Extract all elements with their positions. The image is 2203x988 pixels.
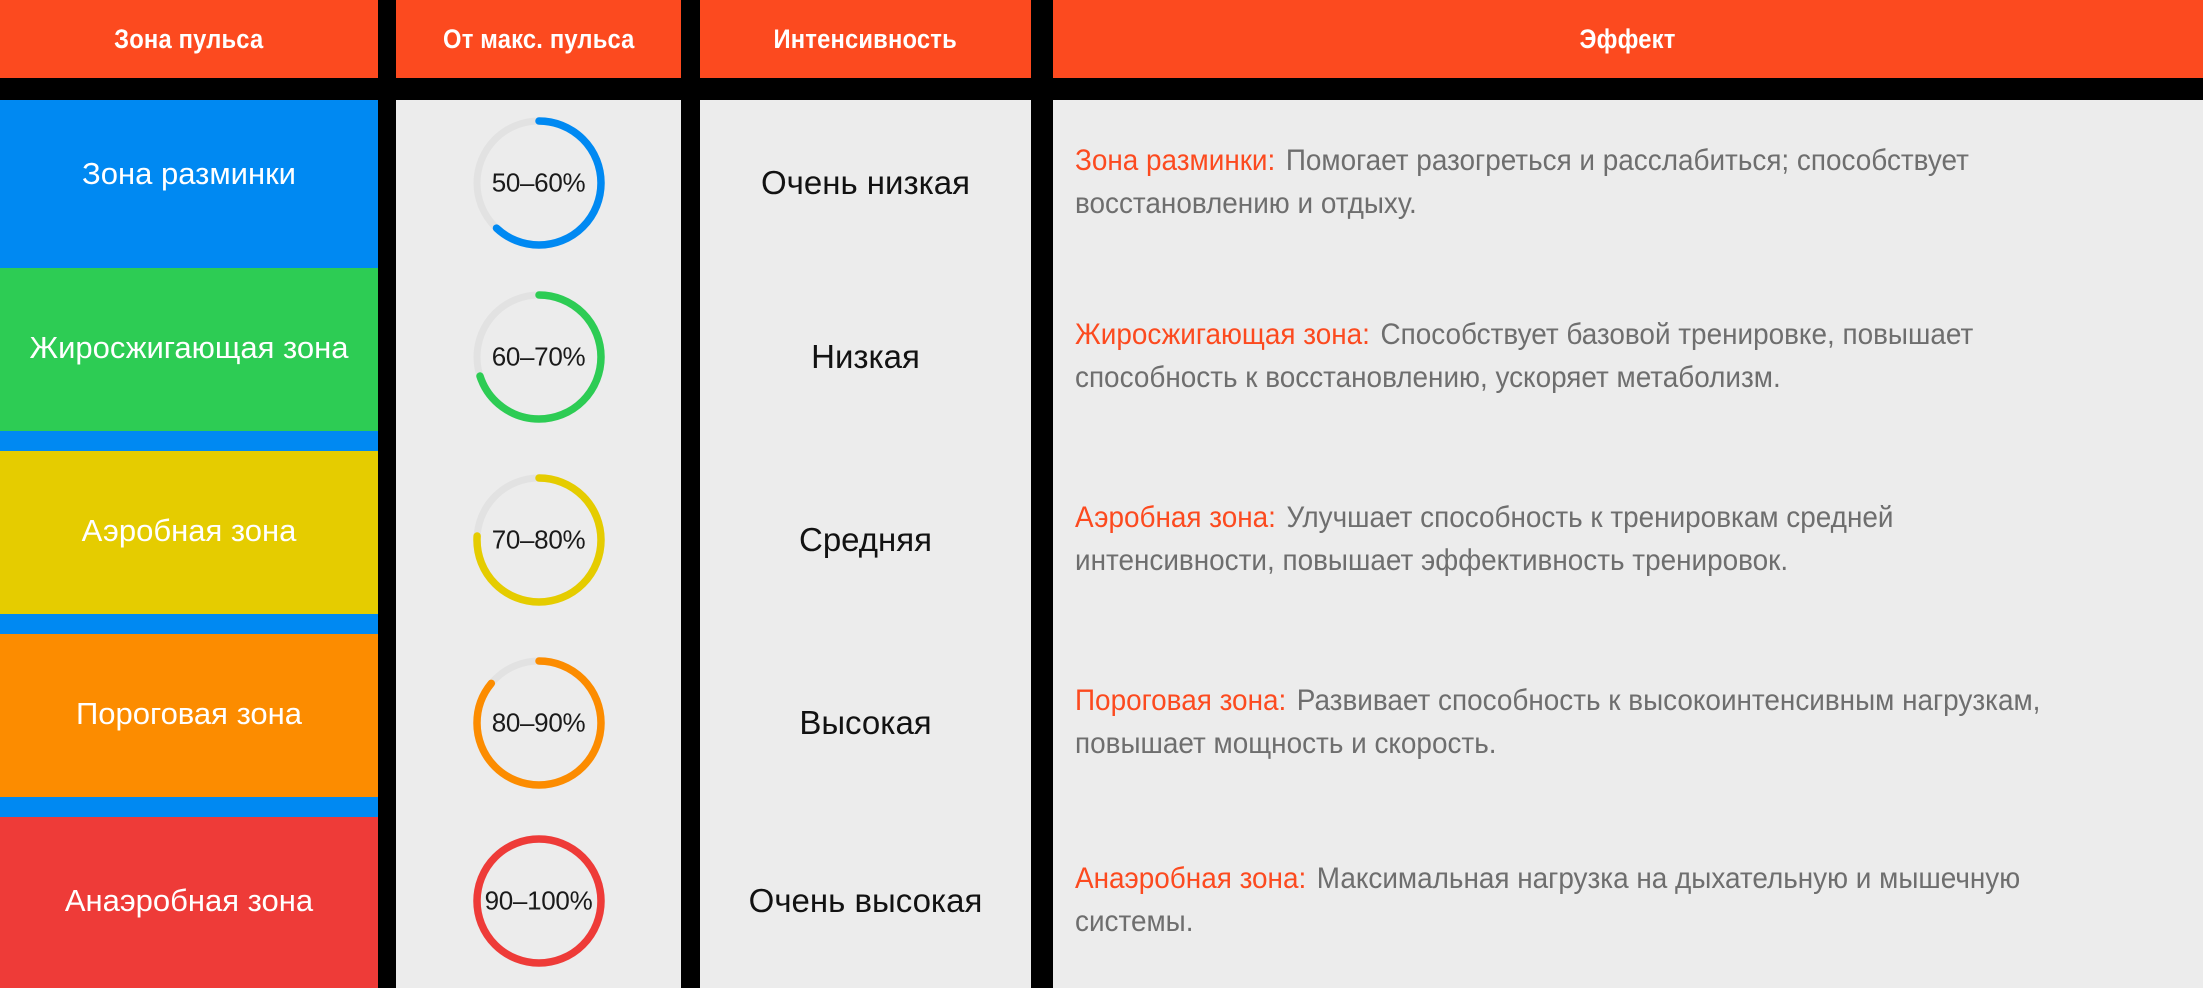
percent-range-label: 60–70% [492, 341, 586, 372]
intensity-label: Высокая [799, 704, 931, 742]
effect-spacer [1286, 684, 1297, 717]
percent-ring-gauge: 60–70% [468, 286, 610, 428]
effect-cell: Анаэробная зона: Максимальная нагрузка н… [1053, 814, 2203, 988]
zone-band[interactable]: Аэробная зона [0, 448, 378, 614]
percent-range-label: 50–60% [492, 167, 586, 198]
percent-ring-cell: 80–90% [396, 631, 681, 814]
zone-band-label: Пороговая зона [76, 695, 302, 733]
column-header-intensity-label: Интенсивность [774, 24, 957, 55]
zone-band-label: Анаэробная зона [65, 882, 313, 920]
zone-separator [0, 248, 378, 268]
effect-description: Аэробная зона: Улучшает способность к тр… [1075, 497, 2100, 582]
intensity-label: Средняя [799, 521, 932, 559]
effect-zone-name: Зона разминки: [1075, 144, 1275, 177]
effect-column: Зона разминки: Помогает разогреться и ра… [1053, 100, 2203, 988]
effect-cell: Зона разминки: Помогает разогреться и ра… [1053, 100, 2203, 265]
effect-spacer [1370, 318, 1381, 351]
percent-ring-cell: 50–60% [396, 100, 681, 265]
intensity-cell: Высокая [700, 631, 1031, 814]
zone-separator [0, 431, 378, 451]
effect-description: Зона разминки: Помогает разогреться и ра… [1075, 140, 2100, 225]
zone-band[interactable]: Анаэробная зона [0, 814, 378, 988]
intensity-cell: Средняя [700, 448, 1031, 631]
effect-zone-name: Пороговая зона: [1075, 684, 1286, 717]
percent-ring-cell: 60–70% [396, 265, 681, 448]
percent-ring-gauge: 90–100% [468, 830, 610, 972]
zone-band[interactable]: Жиросжигающая зона [0, 265, 378, 431]
effect-spacer [1276, 501, 1287, 534]
column-header-zone: Зона пульса [0, 0, 378, 78]
heart-rate-zone-table: Зона пульса От макс. пульса Интенсивност… [0, 0, 2203, 988]
column-header-percent-label: От макс. пульса [443, 24, 635, 55]
zone-band[interactable]: Зона разминки [0, 100, 378, 248]
zone-band-label: Жиросжигающая зона [29, 329, 348, 367]
percent-range-label: 70–80% [492, 524, 586, 555]
effect-cell: Жиросжигающая зона: Способствует базовой… [1053, 265, 2203, 448]
effect-spacer [1306, 862, 1317, 895]
zone-band-label: Аэробная зона [82, 512, 297, 550]
column-header-effect-label: Эффект [1580, 24, 1676, 55]
effect-zone-name: Аэробная зона: [1075, 501, 1276, 534]
intensity-label: Очень низкая [761, 164, 970, 202]
intensity-label: Низкая [811, 338, 920, 376]
column-header-intensity: Интенсивность [700, 0, 1031, 78]
column-header-zone-label: Зона пульса [114, 24, 263, 55]
effect-description: Пороговая зона: Развивает способность к … [1075, 680, 2100, 765]
effect-zone-name: Анаэробная зона: [1075, 862, 1306, 895]
effect-description: Анаэробная зона: Максимальная нагрузка н… [1075, 858, 2100, 943]
percent-ring-cell: 70–80% [396, 448, 681, 631]
column-header-percent: От макс. пульса [396, 0, 681, 78]
effect-description: Жиросжигающая зона: Способствует базовой… [1075, 314, 2100, 399]
percent-ring-gauge: 70–80% [468, 469, 610, 611]
percent-ring-cell: 90–100% [396, 814, 681, 988]
zone-band-label: Зона разминки [82, 155, 296, 193]
percent-range-label: 80–90% [492, 707, 586, 738]
intensity-column: Очень низкаяНизкаяСредняяВысокаяОчень вы… [700, 100, 1031, 988]
effect-cell: Аэробная зона: Улучшает способность к тр… [1053, 448, 2203, 631]
zone-band[interactable]: Пороговая зона [0, 631, 378, 797]
percent-ring-gauge: 80–90% [468, 652, 610, 794]
column-header-effect: Эффект [1053, 0, 2203, 78]
percent-ring-column: 50–60%60–70%70–80%80–90%90–100% [396, 100, 681, 988]
percent-ring-gauge: 50–60% [468, 112, 610, 254]
percent-range-label: 90–100% [485, 886, 593, 917]
intensity-label: Очень высокая [749, 882, 983, 920]
effect-spacer [1275, 144, 1286, 177]
zone-separator [0, 614, 378, 634]
effect-zone-name: Жиросжигающая зона: [1075, 318, 1370, 351]
intensity-cell: Очень высокая [700, 814, 1031, 988]
zone-color-column: Зона разминкиЖиросжигающая зонаАэробная … [0, 100, 378, 988]
effect-cell: Пороговая зона: Развивает способность к … [1053, 631, 2203, 814]
zone-separator [0, 797, 378, 817]
table-header-row: Зона пульса От макс. пульса Интенсивност… [0, 0, 2203, 78]
intensity-cell: Низкая [700, 265, 1031, 448]
intensity-cell: Очень низкая [700, 100, 1031, 265]
